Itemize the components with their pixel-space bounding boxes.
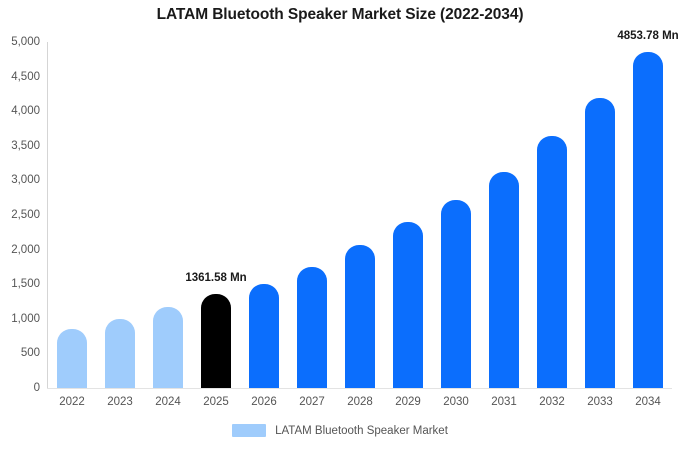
bar-2025[interactable] xyxy=(201,294,231,388)
y-axis-tick-label: 500 xyxy=(21,347,40,359)
bar-chart: LATAM Bluetooth Speaker Market Size (202… xyxy=(0,0,680,450)
bar-2032[interactable] xyxy=(537,136,567,388)
bar-2027[interactable] xyxy=(297,267,327,388)
y-axis-tick-label: 2,500 xyxy=(11,209,40,221)
y-axis-tick-label: 4,000 xyxy=(11,105,40,117)
x-axis-tick-label: 2029 xyxy=(395,396,421,408)
x-axis-tick-label: 2024 xyxy=(155,396,181,408)
x-axis-tick-label: 2033 xyxy=(587,396,613,408)
data-label-2025: 1361.58 Mn xyxy=(185,272,246,284)
bar-2034[interactable] xyxy=(633,52,663,388)
bar-2030[interactable] xyxy=(441,200,471,388)
y-axis-tick-label: 3,500 xyxy=(11,140,40,152)
legend-swatch-latam-bluetooth-speaker-market xyxy=(232,424,266,437)
y-axis: 05001,0001,5002,0002,5003,0003,5004,0004… xyxy=(0,0,40,450)
x-axis-tick-label: 2032 xyxy=(539,396,565,408)
bar-2024[interactable] xyxy=(153,307,183,388)
y-axis-tick-label: 2,000 xyxy=(11,244,40,256)
legend-label-latam-bluetooth-speaker-market: LATAM Bluetooth Speaker Market xyxy=(275,425,448,437)
bar-2031[interactable] xyxy=(489,172,519,388)
bar-2023[interactable] xyxy=(105,319,135,388)
y-axis-tick-label: 0 xyxy=(34,382,40,394)
x-axis-tick-label: 2034 xyxy=(635,396,661,408)
y-axis-tick-label: 3,000 xyxy=(11,174,40,186)
x-axis-tick-label: 2028 xyxy=(347,396,373,408)
y-axis-tick-label: 1,000 xyxy=(11,313,40,325)
data-label-2034: 4853.78 Mn xyxy=(617,30,678,42)
x-axis-tick-label: 2025 xyxy=(203,396,229,408)
x-axis-tick-label: 2027 xyxy=(299,396,325,408)
x-axis-tick-label: 2023 xyxy=(107,396,133,408)
y-axis-tick-label: 4,500 xyxy=(11,71,40,83)
x-axis-baseline xyxy=(47,388,672,389)
x-axis-tick-label: 2031 xyxy=(491,396,517,408)
chart-title: LATAM Bluetooth Speaker Market Size (202… xyxy=(0,6,680,24)
plot-area xyxy=(48,42,672,388)
bar-2026[interactable] xyxy=(249,284,279,388)
chart-legend: LATAM Bluetooth Speaker Market xyxy=(0,424,680,437)
x-axis-tick-label: 2030 xyxy=(443,396,469,408)
bar-2029[interactable] xyxy=(393,222,423,388)
bar-2033[interactable] xyxy=(585,98,615,388)
x-axis-tick-label: 2022 xyxy=(59,396,85,408)
y-axis-tick-label: 1,500 xyxy=(11,278,40,290)
x-axis-tick-label: 2026 xyxy=(251,396,277,408)
y-axis-tick-label: 5,000 xyxy=(11,36,40,48)
bar-2022[interactable] xyxy=(57,329,87,388)
bar-2028[interactable] xyxy=(345,245,375,388)
